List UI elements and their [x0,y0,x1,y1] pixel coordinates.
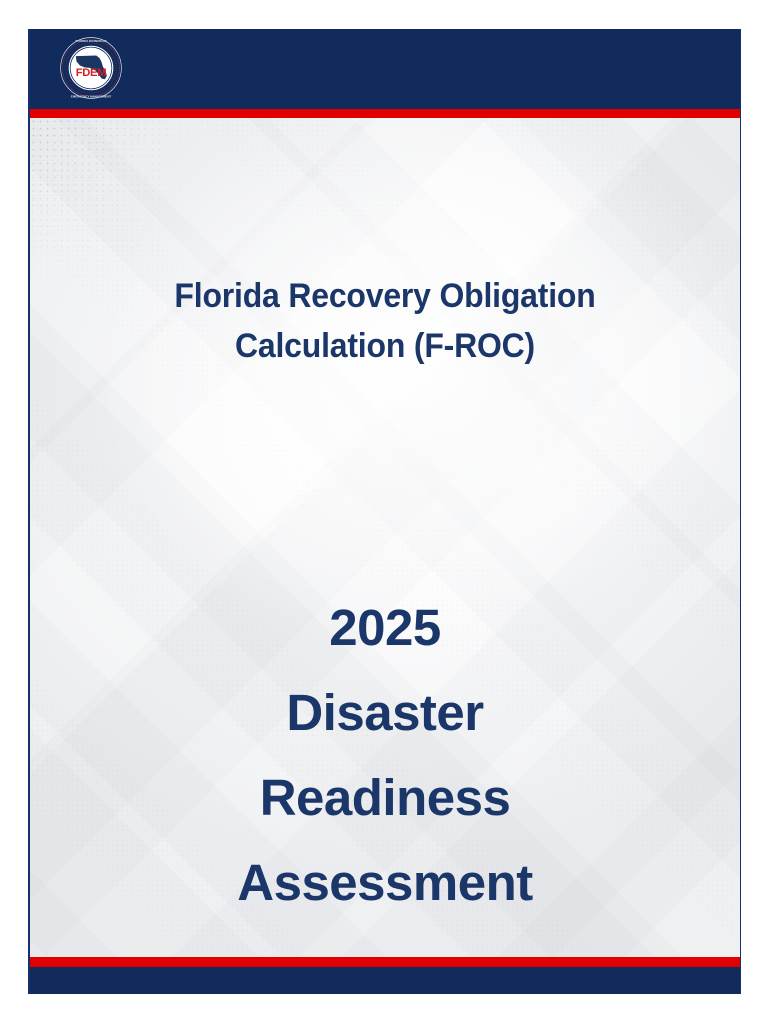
page-subtitle-line-4: Assessment [30,840,740,925]
cover-page: FLORIDA DIVISION OF EMERGENCY MANAGEMENT… [28,29,741,994]
footer-red-rule [30,957,740,967]
svg-text:FDEM: FDEM [76,67,106,79]
page-subtitle-line-3: Readiness [30,755,740,840]
page-title: Florida Recovery Obligation Calculation … [51,271,718,371]
page-subtitle-line-2: Disaster [30,670,740,755]
page-title-line-1: Florida Recovery Obligation [51,271,718,321]
fdem-seal-logo: FLORIDA DIVISION OF EMERGENCY MANAGEMENT… [58,35,124,101]
footer-band [30,967,740,994]
svg-text:EMERGENCY MANAGEMENT: EMERGENCY MANAGEMENT [71,94,112,98]
svg-text:FLORIDA DIVISION OF: FLORIDA DIVISION OF [75,39,106,43]
header-band [30,29,740,109]
page-subtitle: 2025 Disaster Readiness Assessment [30,585,740,925]
page-title-line-2: Calculation (F-ROC) [51,321,718,371]
page-subtitle-line-1: 2025 [30,585,740,670]
cover-text-layer: Florida Recovery Obligation Calculation … [30,118,740,957]
header-red-rule [30,109,740,118]
cover-background: Florida Recovery Obligation Calculation … [30,118,740,957]
